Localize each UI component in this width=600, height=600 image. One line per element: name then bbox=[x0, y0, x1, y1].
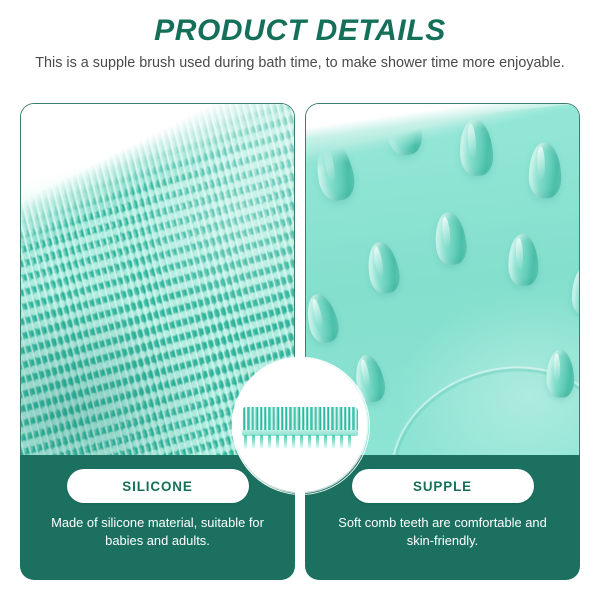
feature-panels: SILICONE Made of silicone material, suit… bbox=[20, 103, 580, 580]
product-inset-circle bbox=[236, 361, 364, 489]
silicone-nub bbox=[571, 264, 580, 315]
brush-comb-teeth bbox=[244, 435, 356, 449]
silicone-nub bbox=[432, 210, 468, 266]
silicone-nub bbox=[364, 239, 403, 295]
brush-side-view bbox=[242, 407, 358, 443]
silicone-nub bbox=[305, 203, 306, 264]
embossed-oval bbox=[366, 337, 580, 455]
silicone-nub bbox=[457, 118, 494, 177]
silicone-nub bbox=[546, 349, 574, 397]
feature-card-silicone: SILICONE Made of silicone material, suit… bbox=[20, 455, 295, 580]
feature-label-text: SILICONE bbox=[122, 479, 192, 494]
silicone-nub bbox=[305, 290, 342, 345]
silicone-nub bbox=[311, 136, 357, 203]
silicone-nub bbox=[507, 234, 539, 287]
product-details-infographic: PRODUCT DETAILS This is a supple brush u… bbox=[0, 0, 600, 600]
silicone-nub bbox=[528, 141, 561, 198]
feature-label-text: SUPPLE bbox=[413, 479, 472, 494]
page-title: PRODUCT DETAILS bbox=[0, 0, 600, 48]
feature-panel-silicone: SILICONE Made of silicone material, suit… bbox=[20, 103, 295, 580]
feature-label-pill-supple: SUPPLE bbox=[352, 469, 534, 503]
feature-label-pill-silicone: SILICONE bbox=[67, 469, 249, 503]
silicone-nub bbox=[382, 103, 425, 158]
feature-description: Soft comb teeth are comfortable and skin… bbox=[324, 514, 562, 551]
page-subtitle: This is a supple brush used during bath … bbox=[35, 48, 565, 73]
header: PRODUCT DETAILS This is a supple brush u… bbox=[0, 0, 600, 73]
feature-panel-supple: SUPPLE Soft comb teeth are comfortable a… bbox=[305, 103, 580, 580]
feature-card-supple: SUPPLE Soft comb teeth are comfortable a… bbox=[305, 455, 580, 580]
feature-description: Made of silicone material, suitable for … bbox=[39, 514, 277, 551]
